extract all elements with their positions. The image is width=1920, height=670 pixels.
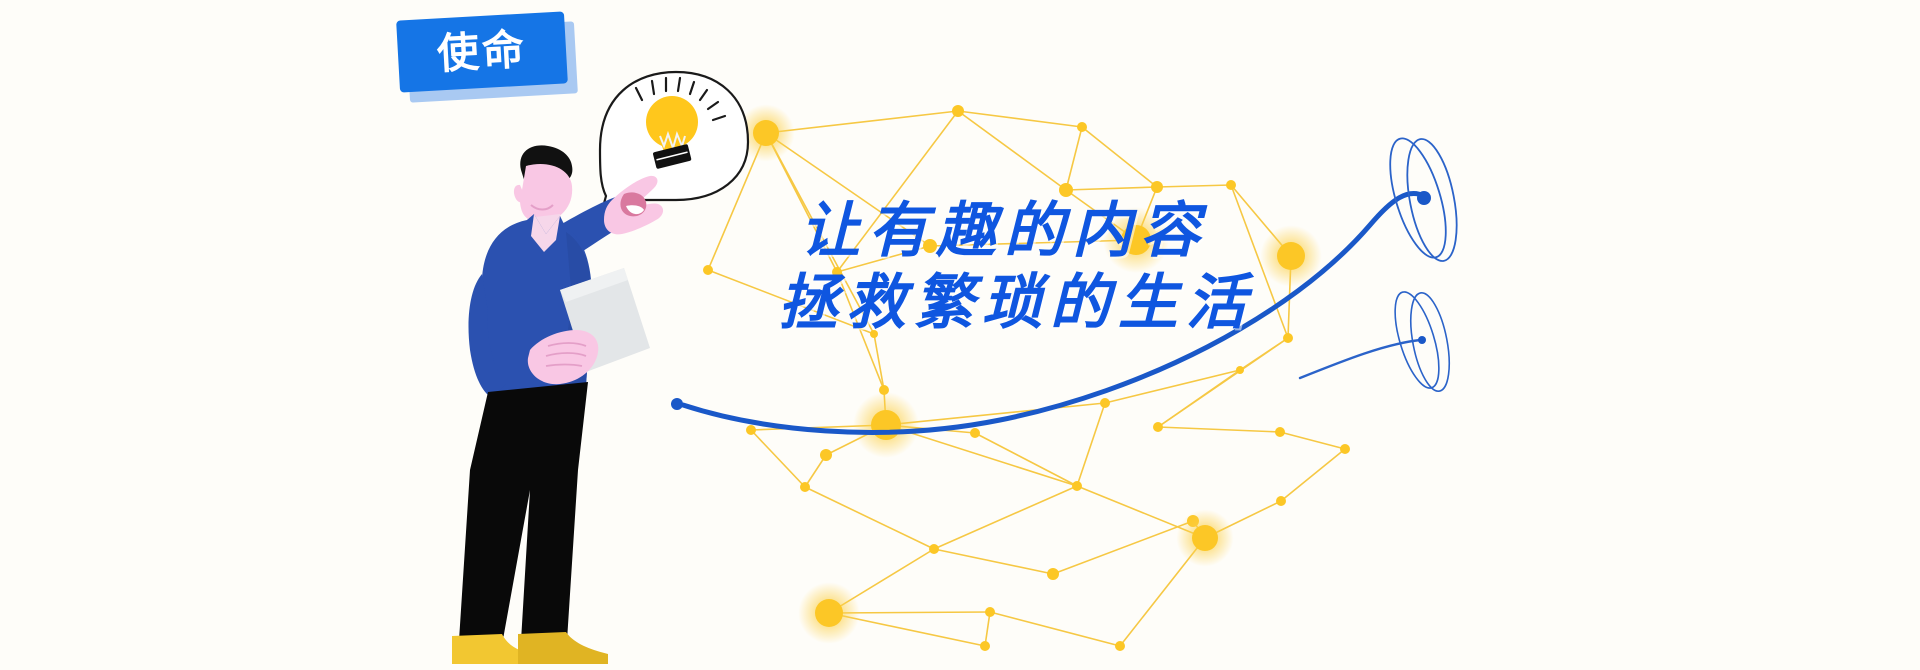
badge-plate: 使命 <box>396 11 568 92</box>
headline-line-2: 拯救繁琐的生活 <box>778 267 1440 339</box>
trousers <box>458 382 588 658</box>
shoe-right <box>518 632 608 664</box>
badge-label: 使命 <box>436 29 528 76</box>
face <box>520 164 572 222</box>
mission-banner: 让有趣的内容 拯救繁琐的生活 <box>0 0 1920 670</box>
mission-badge[interactable]: 使命 <box>392 8 582 108</box>
headline-line-1: 让有趣的内容 <box>800 195 1440 267</box>
headline-block: 让有趣的内容 拯救繁琐的生活 <box>800 195 1440 339</box>
